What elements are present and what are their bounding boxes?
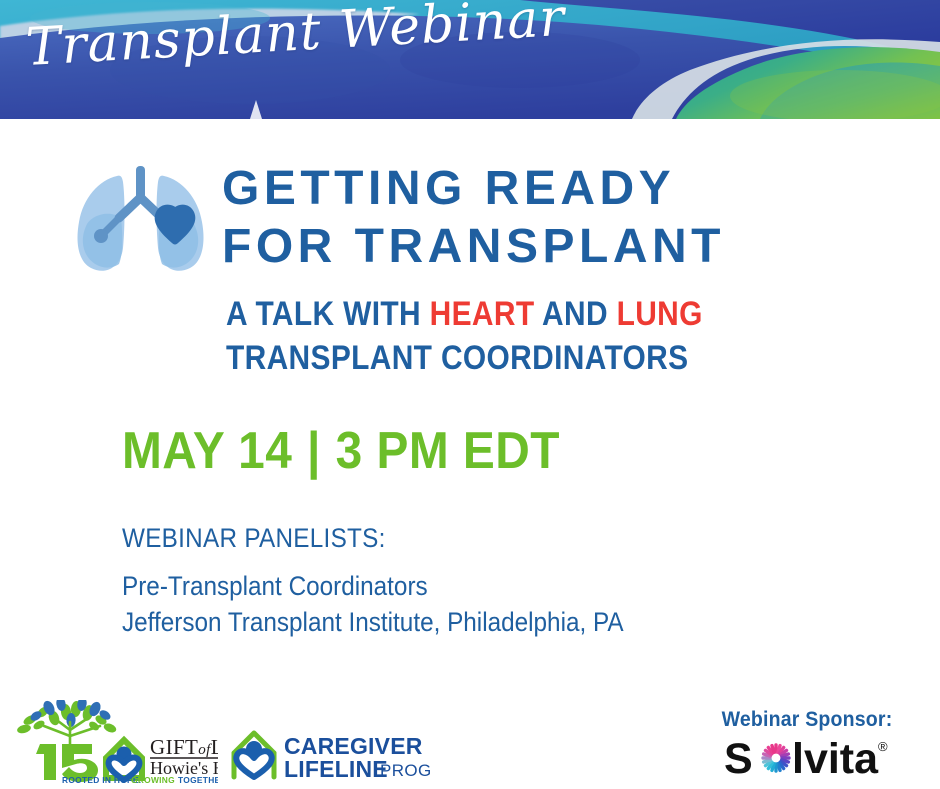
svg-text:GROWING: GROWING [131,775,175,784]
subtitle-part-2: AND [534,295,616,333]
house-heart-icon [106,740,142,780]
headline-line-2: FOR TRANSPLANT [222,218,922,276]
subtitle-lung-word: LUNG [617,295,703,333]
registered-trademark-symbol: ® [878,739,888,754]
event-datetime: MAY 14|3 PM EDT [122,422,560,480]
svg-text:ROOTED IN HOPE.: ROOTED IN HOPE. [62,775,141,784]
house-heart-icon [234,733,274,777]
lungs-with-heart-icon [63,158,218,280]
gift-of-life-howies-house-logo: GIFTofLIFE Howie's House ROOTED IN HOPE.… [6,700,218,784]
page-title: GETTING READY FOR TRANSPLANT [222,160,922,276]
sponsor-label: Webinar Sponsor: [700,708,914,732]
webinar-sponsor: Webinar Sponsor: S [692,708,922,779]
headline-line-1: GETTING READY [222,160,922,218]
panelists-heading: WEBINAR PANELISTS: [122,523,386,554]
caregiver-wordmark-line2a: LIFELINE [284,756,388,782]
subtitle-line-2: TRANSPLANT COORDINATORS [226,336,842,380]
caregiver-wordmark-line2b: PROGRAM [380,761,433,780]
subtitle: A TALK WITH HEART AND LUNG TRANSPLANT CO… [226,292,842,380]
event-date: MAY 14 [122,422,292,480]
panelists-line-1: Pre-Transplant Coordinators [122,568,624,604]
subtitle-line-1: A TALK WITH HEART AND LUNG [226,292,842,336]
tree-icon [16,700,117,744]
subtitle-part-1: A TALK WITH [226,295,430,333]
gift-of-life-wordmark: GIFTofLIFE Howie's House [150,735,218,778]
caregiver-lifeline-program-logo: CAREGIVER LIFELINE PROGRAM [228,727,433,783]
solvita-lvita: lvita [792,735,879,779]
svg-text:GIFTofLIFE: GIFTofLIFE [150,735,218,759]
header-banner: Transplant Webinar [0,0,940,119]
svg-text:TOGETHER.: TOGETHER. [178,775,218,784]
event-time: 3 PM EDT [336,422,560,480]
solvita-burst-icon [763,745,789,771]
panelists-line-2: Jefferson Transplant Institute, Philadel… [122,604,624,640]
datetime-separator: | [292,422,335,480]
anniversary-tagline: ROOTED IN HOPE. GROWING TOGETHER. [62,775,218,784]
subtitle-heart-word: HEART [430,295,535,333]
solvita-logo: S [692,733,922,779]
solvita-s: S [724,735,753,779]
panelists-details: Pre-Transplant Coordinators Jefferson Tr… [122,568,624,640]
